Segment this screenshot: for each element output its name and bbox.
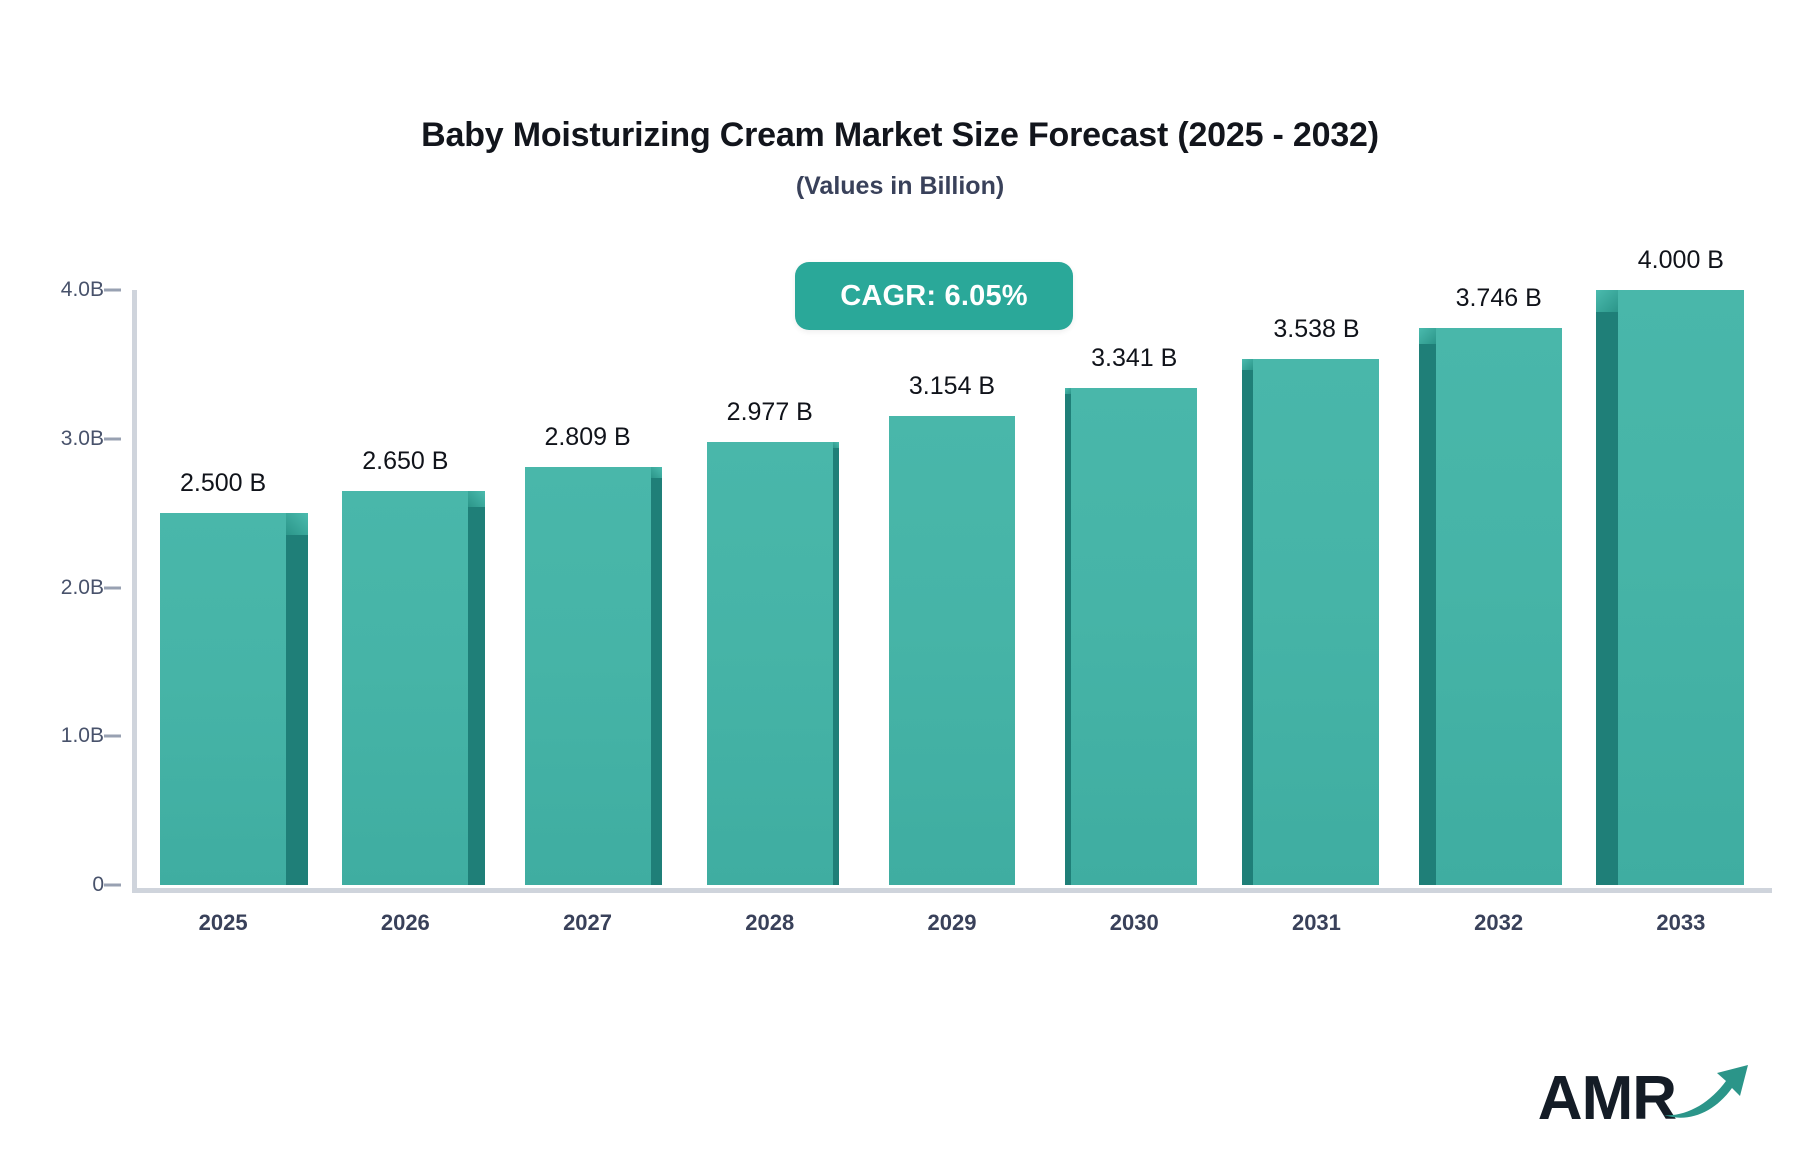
bar-2033[interactable]: 4.000 B [1618, 290, 1744, 885]
bar-value-label: 3.154 B [832, 372, 1072, 401]
x-axis-line [132, 888, 1772, 893]
plot-area: 01.0B2.0B3.0B4.0B 2.500 B2.650 B2.809 B2… [132, 290, 1772, 890]
y-tick-mark [104, 586, 121, 589]
y-tick-label: 4.0B [0, 278, 104, 302]
bar-side-face [468, 507, 485, 885]
bar-2031[interactable]: 3.538 B [1253, 359, 1379, 885]
chart-title: Baby Moisturizing Cream Market Size Fore… [0, 116, 1800, 155]
bar-side-face [833, 448, 839, 885]
bar-top-face [651, 467, 662, 478]
bar-side-face [1242, 370, 1253, 885]
bar-2026[interactable]: 2.650 B [342, 491, 468, 885]
bar-face [1071, 388, 1197, 885]
bar-face [342, 491, 468, 885]
bar-side-face [651, 478, 662, 885]
bar-2028[interactable]: 2.977 B [707, 442, 833, 885]
bar-top-face [833, 442, 839, 448]
bar-top-face [286, 513, 308, 535]
bar-top-face [1065, 388, 1071, 394]
chart-subtitle: (Values in Billion) [0, 172, 1800, 201]
bar-side-face [1065, 394, 1071, 885]
bar-side-face [1596, 312, 1618, 885]
y-tick-mark [104, 735, 121, 738]
bar-top-face [1242, 359, 1253, 370]
chart-canvas: Baby Moisturizing Cream Market Size Fore… [0, 0, 1800, 1156]
bar-top-face [468, 491, 485, 508]
bar-face [889, 416, 1015, 885]
bar-side-face [1419, 344, 1436, 885]
y-tick-mark [104, 884, 121, 887]
amr-logo: AMR [1538, 1040, 1752, 1130]
bar-face [1618, 290, 1744, 885]
bar-value-label: 3.746 B [1379, 284, 1619, 313]
y-axis-line [132, 290, 137, 890]
cagr-badge: CAGR: 6.05% [795, 262, 1073, 330]
bar-value-label: 4.000 B [1561, 246, 1800, 275]
bar-2027[interactable]: 2.809 B [525, 467, 651, 885]
bar-value-label: 2.809 B [468, 423, 708, 452]
y-tick-mark [104, 437, 121, 440]
bar-top-face [1419, 328, 1436, 345]
y-tick-label: 0 [0, 873, 104, 897]
bar-2032[interactable]: 3.746 B [1436, 328, 1562, 885]
y-tick-mark [104, 289, 121, 292]
bar-face [1253, 359, 1379, 885]
bar-value-label: 3.341 B [1014, 344, 1254, 373]
y-tick-label: 3.0B [0, 427, 104, 451]
logo-text: AMR [1538, 1068, 1676, 1130]
bar-2030[interactable]: 3.341 B [1071, 388, 1197, 885]
x-tick-label-2033: 2033 [1561, 910, 1800, 936]
growth-arrow-icon [1660, 1059, 1752, 1126]
bar-2029[interactable]: 3.154 B [889, 416, 1015, 885]
bar-face [525, 467, 651, 885]
bar-face [160, 513, 286, 885]
y-tick-label: 1.0B [0, 724, 104, 748]
bar-side-face [286, 535, 308, 885]
bar-top-face [1596, 290, 1618, 312]
bar-value-label: 3.538 B [1196, 315, 1436, 344]
bar-2025[interactable]: 2.500 B [160, 513, 286, 885]
bar-face [707, 442, 833, 885]
bar-value-label: 2.977 B [650, 398, 890, 427]
y-tick-label: 2.0B [0, 576, 104, 600]
bar-face [1436, 328, 1562, 885]
